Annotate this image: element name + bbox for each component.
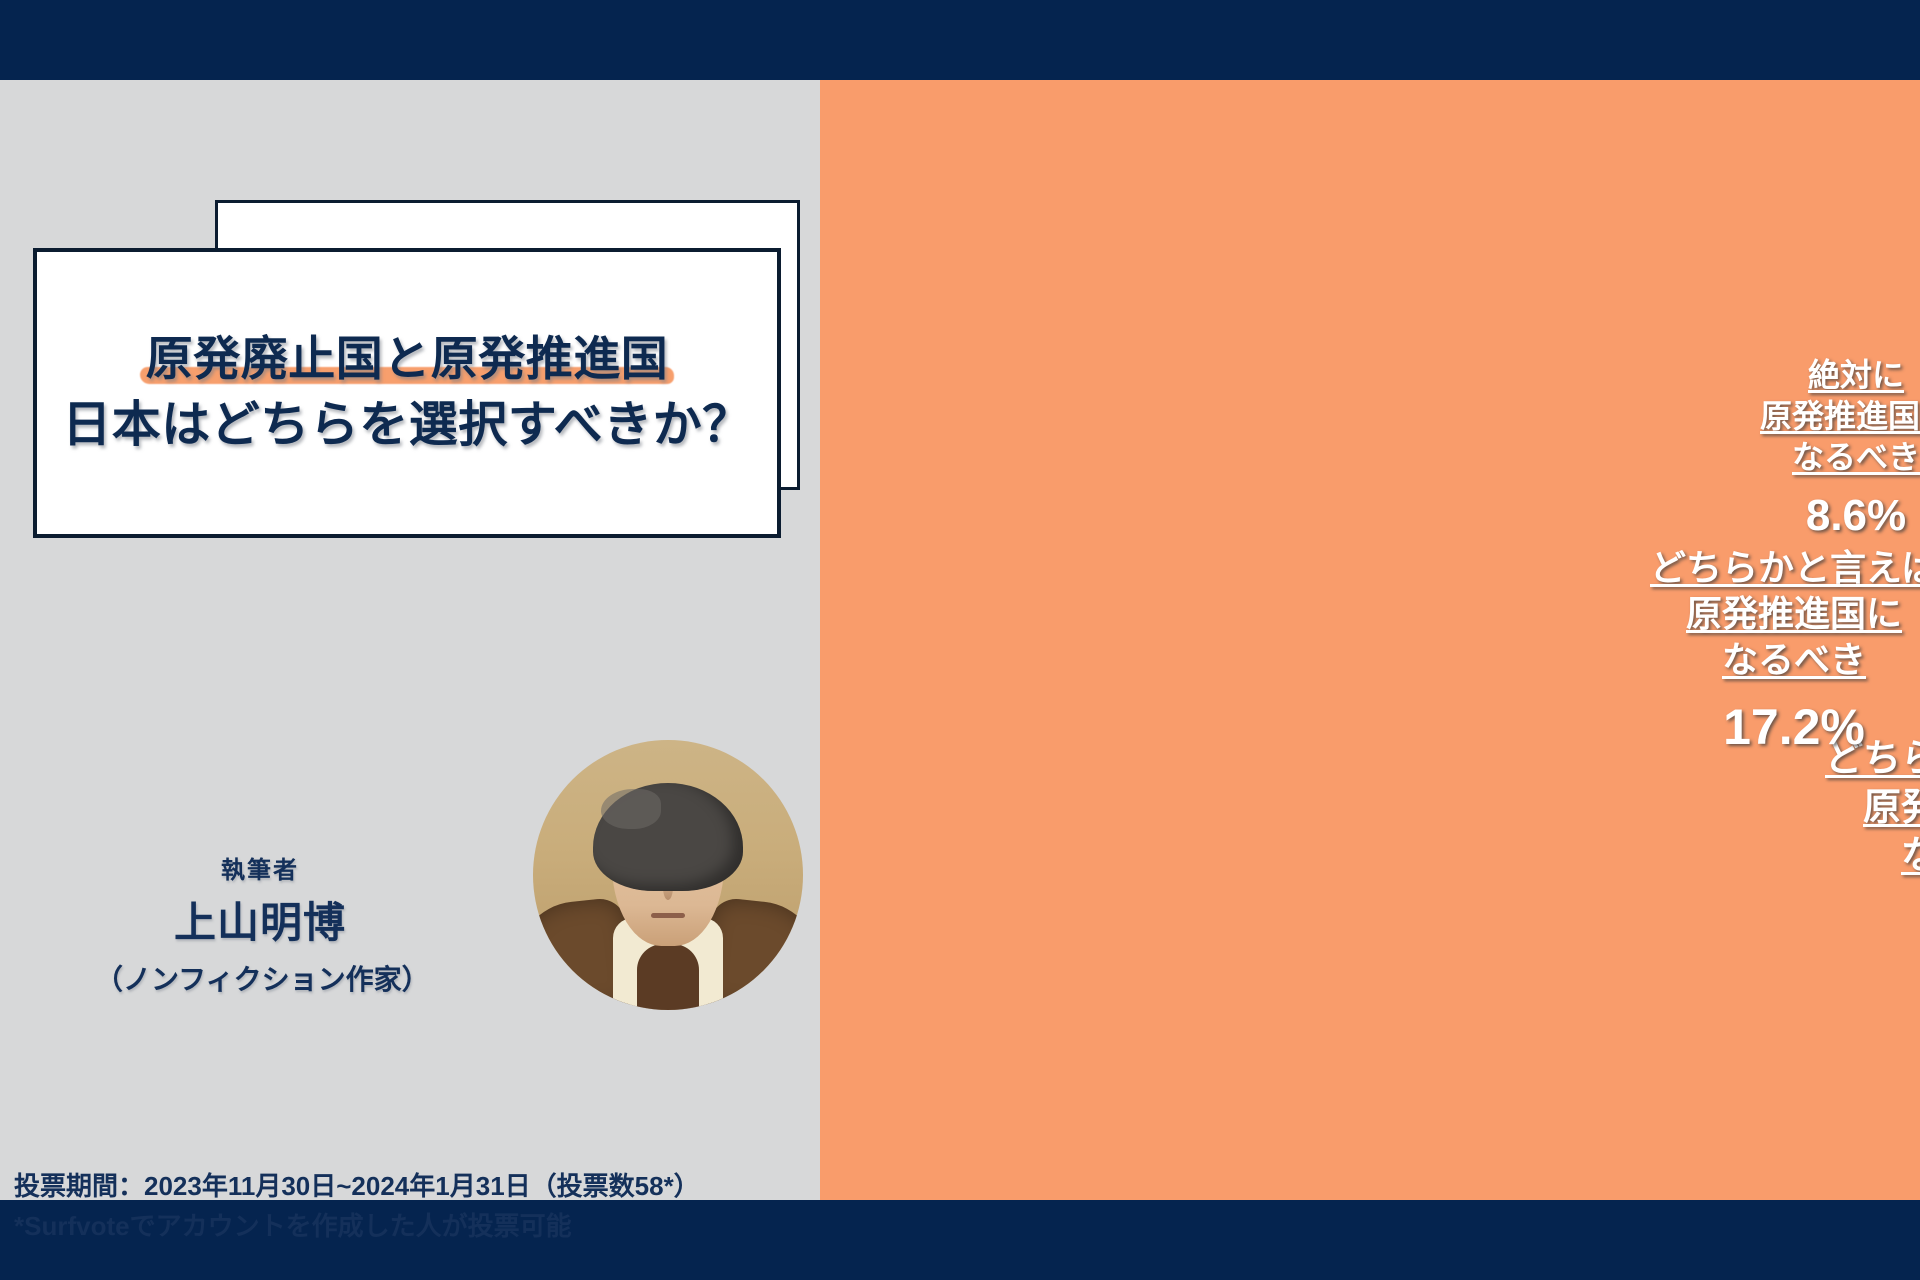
pie-label-line: なるべき xyxy=(1722,639,1866,680)
right-orange-panel: 投票結果 絶対に 原発廃止国に なるべき 37.9% どちらかと言えば 原発廃止… xyxy=(820,80,1920,1200)
author-role-label: 執筆者 xyxy=(95,850,425,885)
portrait-hair xyxy=(593,783,743,891)
portrait-vest xyxy=(637,944,699,1010)
pie-label-lean-promote: どちらかと言えば 原発推進国に なるべき 17.2% xyxy=(1650,545,1920,759)
author-portrait-photo xyxy=(533,740,803,1010)
author-occupation: （ノンフィクション作家） xyxy=(95,958,425,998)
footnote-account-note: *Surfvoteでアカウントを作成した人が投票可能 xyxy=(14,1206,700,1246)
pie-label-line: 絶対に xyxy=(1808,357,1904,393)
left-gray-panel: 原発廃止国と原発推進国 日本はどちらを選択すべきか？ 執筆者 上山明博 （ノンフ… xyxy=(0,80,820,1200)
pie-label-line: 原発廃止国に xyxy=(1863,787,1920,829)
pie-label-line: なるべき xyxy=(1792,439,1920,475)
pie-label-lean-abolish: どちらかと言えば 原発廃止国に なるべき 31% xyxy=(1825,735,1920,961)
author-block: 執筆者 上山明博 （ノンフィクション作家） xyxy=(95,850,425,998)
title-card: 原発廃止国と原発推進国 日本はどちらを選択すべきか？ xyxy=(33,248,781,538)
top-navy-band xyxy=(0,0,1920,80)
title-line-1-text: 原発廃止国と原発推進国 xyxy=(146,332,669,385)
pie-value-lean-abolish: 31% xyxy=(1825,895,1920,962)
slide-canvas: 原発廃止国と原発推進国 日本はどちらを選択すべきか？ 執筆者 上山明博 （ノンフ… xyxy=(0,0,1920,1280)
pie-value-lean-promote: 17.2% xyxy=(1650,695,1920,759)
pie-label-absolutely-promote: 絶対に 原発推進国に なるべき 8.6% xyxy=(1760,355,1920,544)
pie-label-line: 原発推進国に xyxy=(1760,398,1920,434)
pie-value-absolutely-promote: 8.6% xyxy=(1760,488,1920,544)
portrait-mouth xyxy=(651,913,685,918)
footnote-block: 投票期間：2023年11月30日~2024年1月31日（投票数58*） *Sur… xyxy=(14,1166,700,1247)
footnote-voting-period: 投票期間：2023年11月30日~2024年1月31日（投票数58*） xyxy=(14,1166,700,1206)
pie-label-line: どちらかと言えば xyxy=(1650,547,1920,588)
pie-label-line: なるべき xyxy=(1901,835,1920,877)
title-line-1: 原発廃止国と原発推進国 xyxy=(146,333,669,386)
author-name: 上山明博 xyxy=(95,889,425,950)
pie-label-line: 原発推進国に xyxy=(1686,593,1902,634)
title-line-2: 日本はどちらを選択すべきか？ xyxy=(62,398,752,453)
